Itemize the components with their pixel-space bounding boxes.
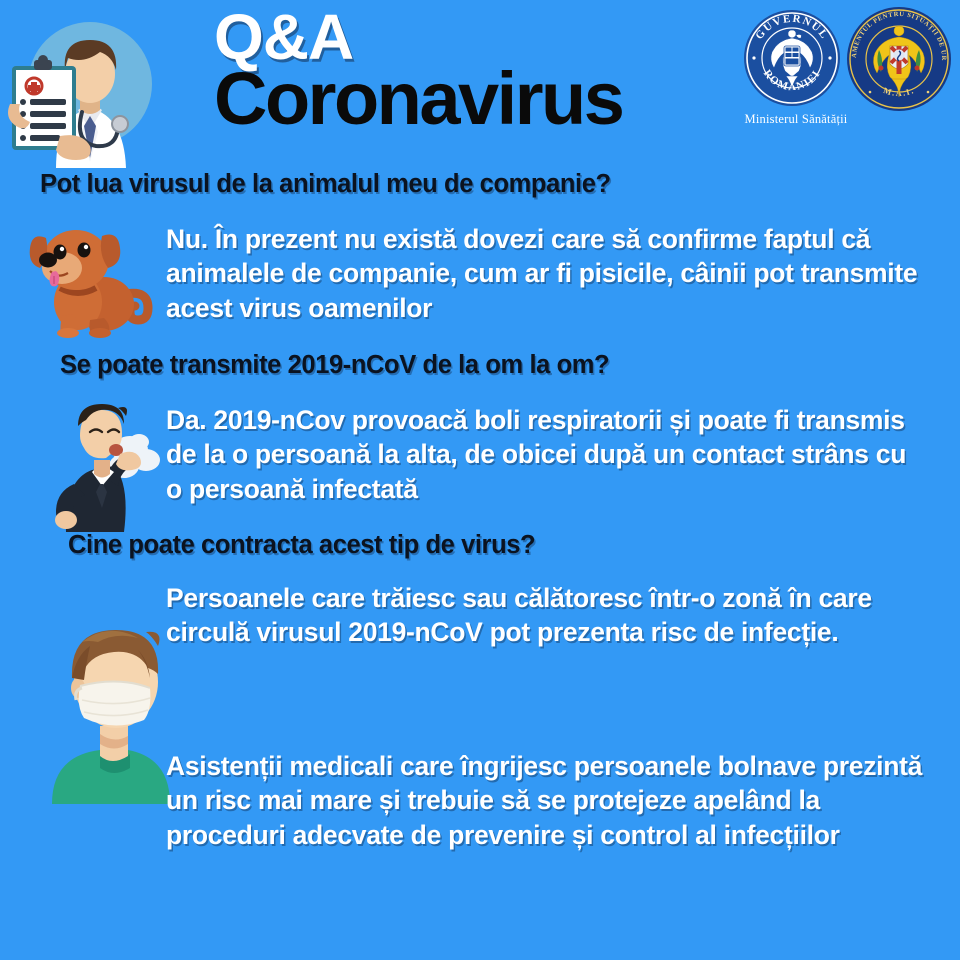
ministry-label: Ministerul Sănătății — [736, 112, 856, 127]
answer-3: Persoanele care trăiesc sau călătoresc î… — [166, 581, 941, 650]
title-coronavirus: Coronavirus — [214, 63, 734, 136]
departamentul-situatii-urgenta-logo-icon: DEPARTAMENTUL PENTRU SITUAȚII DE URGENȚĂ… — [846, 6, 952, 112]
question-2: Se poate transmite 2019-nCoV de la om la… — [60, 351, 609, 380]
coughing-man-icon — [44, 392, 166, 532]
answer-1: Nu. În prezent nu există dovezi care să … — [166, 222, 956, 325]
header: Q&A Coronavirus GUVERNUL — [0, 0, 960, 168]
answer-4: Asistenții medicali care îngrijesc perso… — [166, 749, 941, 852]
guvernul-romaniei-logo-icon: GUVERNUL ROMÂNIEI — [742, 8, 842, 108]
doctor-with-clipboard-icon — [4, 12, 164, 168]
answer-2: Da. 2019-nCov provoacă boli respiratorii… — [166, 403, 926, 506]
masked-person-icon — [42, 604, 182, 804]
poster-title: Q&A Coronavirus — [214, 6, 734, 135]
dog-icon — [26, 216, 154, 344]
question-3: Cine poate contracta acest tip de virus? — [68, 531, 535, 560]
question-1: Pot lua virusul de la animalul meu de co… — [40, 170, 611, 199]
infographic-poster: Q&A Coronavirus GUVERNUL — [0, 0, 960, 960]
logo-group: GUVERNUL ROMÂNIEI — [742, 6, 956, 136]
